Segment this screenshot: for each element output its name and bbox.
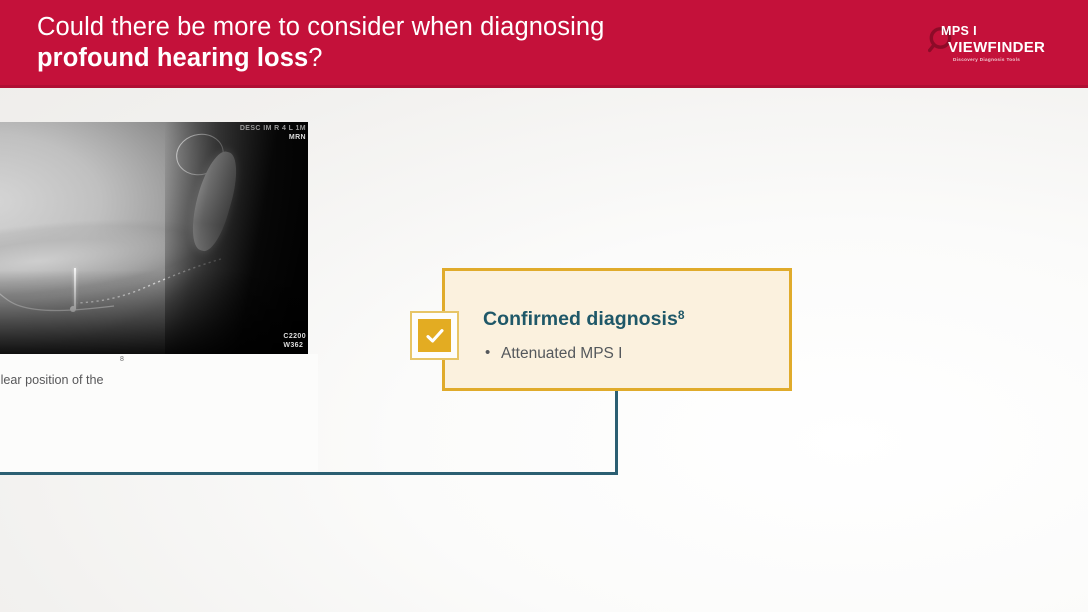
confirmed-diagnosis-card: Confirmed diagnosis8 Attenuated MPS I — [442, 268, 792, 391]
connector-line-vertical — [615, 390, 618, 475]
page-title: Could there be more to consider when dia… — [37, 12, 807, 74]
brand-logo-line-1: MPS I — [941, 25, 1053, 38]
slide-canvas: Could there be more to consider when dia… — [0, 0, 1088, 612]
brand-logo-text: MPS I VIEWFINDER Discovery Diagnosis Too… — [941, 25, 1053, 62]
xray-overlay-window-center: C2200 — [283, 332, 306, 341]
confirmed-diagnosis-heading: Confirmed diagnosis8 — [483, 308, 685, 331]
page-title-line-1: Could there be more to consider when dia… — [37, 13, 604, 41]
page-title-question-mark: ? — [308, 44, 322, 72]
header-bar: Could there be more to consider when dia… — [0, 0, 1088, 88]
checkmark-icon — [418, 319, 451, 352]
xray-image: DESC IM R 4 L 1M MRN C2200 W362 — [0, 122, 308, 354]
confirmed-diagnosis-check-badge — [410, 311, 459, 360]
xray-overlay-study-info: DESC IM R 4 L 1M — [240, 124, 306, 133]
page-title-emphasis: profound hearing loss — [37, 44, 308, 72]
xray-caption-line-1: ne intracochlear position of the — [0, 373, 104, 387]
connector-line-horizontal — [0, 472, 618, 475]
confirmed-diagnosis-heading-text: Confirmed diagnosis — [483, 308, 678, 330]
xray-footnote-marker: 8 — [120, 356, 124, 364]
xray-overlay-mrn: MRN — [289, 134, 306, 141]
page-title-line-2: profound hearing loss? — [37, 43, 807, 74]
xray-air-region-bottom — [0, 270, 308, 354]
xray-overlay-window-width: W362 — [283, 341, 306, 350]
xray-overlay-bottom-right: C2200 W362 — [283, 332, 306, 350]
brand-logo-tagline: Discovery Diagnosis Tools — [953, 58, 1053, 63]
brand-logo-line-2: VIEWFINDER — [948, 40, 1053, 55]
xray-caption: ne intracochlear position of the patient… — [0, 371, 232, 408]
list-item: Attenuated MPS I — [483, 344, 623, 364]
brand-logo[interactable]: MPS I VIEWFINDER Discovery Diagnosis Too… — [928, 23, 1053, 67]
confirmed-diagnosis-list: Attenuated MPS I — [483, 344, 623, 364]
confirmed-diagnosis-heading-reference: 8 — [678, 308, 685, 322]
xray-overlay-top-right: DESC IM R 4 L 1M MRN — [240, 124, 306, 142]
